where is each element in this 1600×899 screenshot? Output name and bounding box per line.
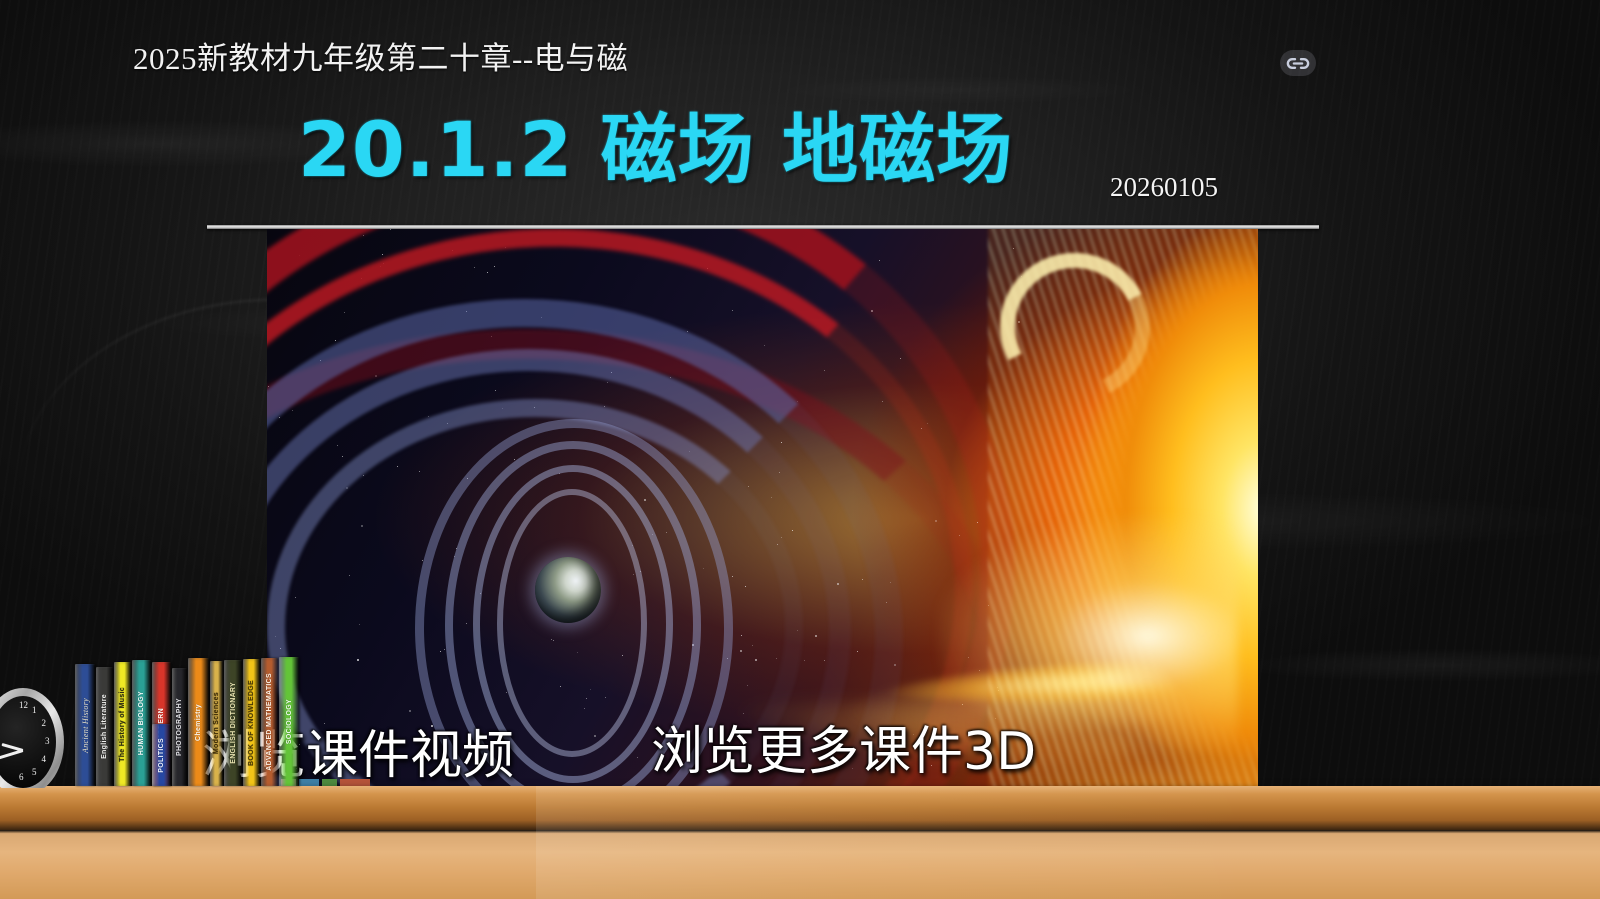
book-spine: English Literature (96, 667, 113, 786)
book-spine: HUMAN BIOLOGY (132, 660, 151, 786)
clock-numeral: 5 (32, 767, 37, 777)
book-title: POLITICS (158, 738, 165, 773)
clock-numeral: 2 (42, 718, 47, 728)
book-spine: PHOTOGRAPHY (172, 668, 187, 786)
page-title: 20.1.2 磁场 地磁场 (298, 112, 1013, 188)
book-spine: ADVANCED MATHEMATICS (261, 658, 278, 786)
bookshelf-books: Ancient HistoryEnglish LiteratureThe His… (75, 662, 275, 786)
book-title: Ancient History (81, 698, 90, 753)
clock-numeral: 1 (32, 705, 37, 715)
book-spine: ENGLISH DICTIONARY (224, 660, 242, 786)
clock-minute-hand (0, 749, 23, 761)
earth-globe (535, 557, 601, 623)
book-spine: POLITICS (152, 724, 171, 786)
book-spine: Ancient History (75, 664, 95, 786)
clock-numeral: 6 (19, 772, 24, 782)
book-title: ADVANCED MATHEMATICS (266, 673, 273, 771)
book-spine: Chemistry (188, 658, 209, 786)
book-title: ENGLISH DICTIONARY (230, 682, 237, 764)
book-spine: The History of Music (114, 662, 131, 786)
book-title: The History of Music (119, 687, 126, 762)
course-header-title: 2025新教材九年级第二十章--电与磁 (133, 33, 628, 78)
shelf-front-panel (0, 830, 1600, 899)
date-stamp: 20260105 (1110, 172, 1218, 203)
book-title: Modern Sciences (213, 692, 220, 754)
book-spine: SOCIOLOGY (279, 657, 299, 786)
book-title: BOOK OF KNOWLEDGE (248, 680, 255, 766)
slide-stage: 2025新教材九年级第二十章--电与磁 20.1.2 磁场 地磁场 202601… (0, 0, 1600, 899)
clock-numeral: 4 (42, 754, 47, 764)
clock-numeral: 3 (45, 736, 50, 746)
book-title: HUMAN BIOLOGY (138, 691, 145, 755)
book-spine: Modern Sciences (210, 661, 223, 786)
book-title: Chemistry (195, 704, 202, 741)
book-title: English Literature (101, 694, 108, 759)
clock-numeral: 12 (19, 700, 28, 710)
link-chain-icon[interactable] (1280, 50, 1316, 76)
browse-more-courseware-3d-label[interactable]: 浏览更多课件3D (651, 709, 1036, 784)
shelf-top (0, 786, 1600, 830)
book-title: PHOTOGRAPHY (176, 698, 183, 756)
book-title: SOCIOLOGY (286, 699, 293, 744)
space-background (267, 229, 1258, 786)
desk-clock: 12123456 (0, 688, 66, 788)
book-spine: BOOK OF KNOWLEDGE (243, 659, 260, 786)
magnetosphere-media-panel[interactable] (267, 229, 1258, 786)
